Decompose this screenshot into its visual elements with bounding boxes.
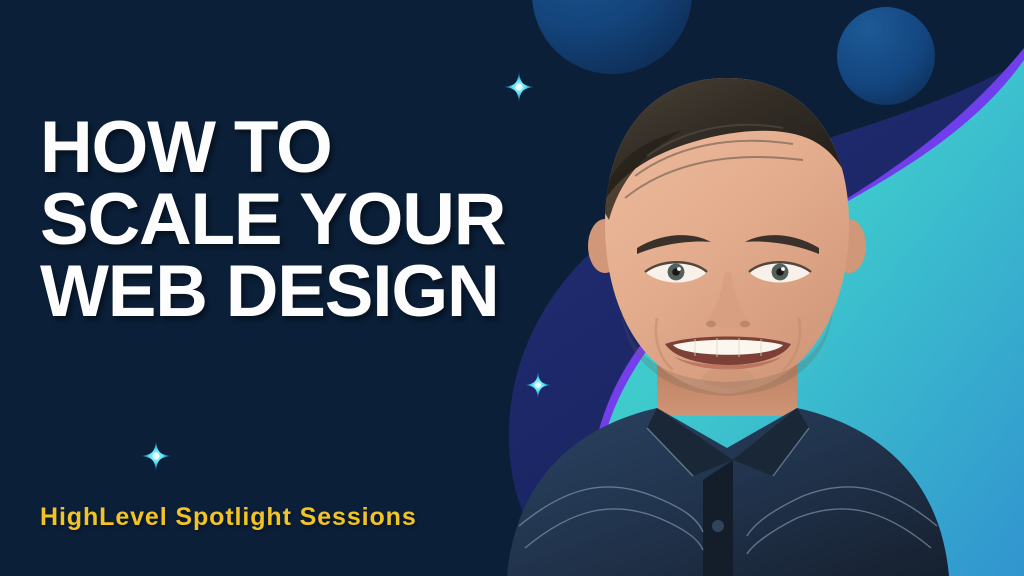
headline-line-1: HOW TO (40, 112, 505, 184)
video-thumbnail: HOW TO SCALE YOUR WEB DESIGN HighLevel S… (0, 0, 1024, 576)
portrait-button (712, 520, 724, 532)
headline-line-3: WEB DESIGN (40, 256, 505, 328)
portrait-placket (703, 460, 733, 576)
speaker-portrait-illustration (497, 56, 957, 576)
headline-line-2: SCALE YOUR (40, 184, 505, 256)
portrait-head (588, 64, 866, 396)
speaker-portrait (497, 56, 957, 576)
series-subtitle: HighLevel Spotlight Sessions (40, 503, 417, 532)
page-title: HOW TO SCALE YOUR WEB DESIGN (40, 112, 505, 328)
sparkle-icon-bottom-left (140, 440, 172, 472)
